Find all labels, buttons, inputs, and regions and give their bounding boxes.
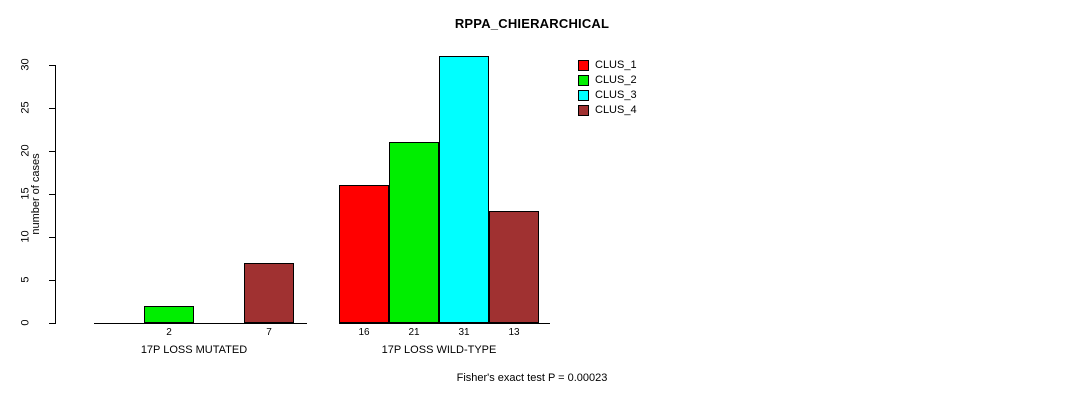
legend-color-swatch [578, 105, 589, 116]
legend-item-clus_1[interactable]: CLUS_1 [578, 58, 637, 73]
group-axis-label: 17P LOSS MUTATED [94, 345, 294, 356]
legend-item-clus_2[interactable]: CLUS_2 [578, 73, 637, 88]
page-title: RPPA_CHIERARCHICAL [0, 16, 1077, 31]
group-axis-label: 17P LOSS WILD-TYPE [339, 345, 539, 356]
y-axis-tick-mark [49, 237, 55, 238]
legend-item-clus_3[interactable]: CLUS_3 [578, 88, 637, 103]
bar-value-label: 16 [339, 328, 389, 338]
legend-item-label: CLUS_2 [595, 75, 637, 86]
y-axis-tick-label: 5 [21, 260, 32, 300]
legend-color-swatch [578, 90, 589, 101]
bar-value-label: 7 [244, 328, 294, 338]
legend-item-clus_4[interactable]: CLUS_4 [578, 103, 637, 118]
group-baseline [94, 323, 307, 324]
bar-clus_4-group1[interactable] [244, 263, 294, 323]
bar-value-label: 31 [439, 328, 489, 338]
bar-clus_3-group2[interactable] [439, 56, 489, 323]
bar-clus_1-group2[interactable] [339, 185, 389, 323]
bar-clus_2-group1[interactable] [144, 306, 194, 323]
y-axis-line [55, 65, 56, 324]
statistical-test-annotation: Fisher's exact test P = 0.00023 [0, 372, 1077, 384]
bar-clus_2-group2[interactable] [389, 142, 439, 323]
y-axis-tick-label: 15 [21, 174, 32, 214]
bar-value-label: 13 [489, 328, 539, 338]
bar-value-label: 21 [389, 328, 439, 338]
y-axis-tick-mark [49, 108, 55, 109]
y-axis-tick-mark [49, 151, 55, 152]
y-axis-tick-mark [49, 65, 55, 66]
bar-value-label: 2 [144, 328, 194, 338]
y-axis-tick-label: 30 [21, 45, 32, 85]
y-axis-tick-label: 10 [21, 217, 32, 257]
legend-item-label: CLUS_3 [595, 90, 637, 101]
legend-color-swatch [578, 75, 589, 86]
y-axis-tick-label: 20 [21, 131, 32, 171]
y-axis-tick-mark [49, 280, 55, 281]
legend-item-label: CLUS_4 [595, 105, 637, 116]
chart-canvas: RPPA_CHIERARCHICAL number of cases 30252… [0, 0, 1090, 400]
y-axis-tick-label: 0 [21, 303, 32, 343]
y-axis-tick-mark [49, 323, 55, 324]
legend: CLUS_1CLUS_2CLUS_3CLUS_4 [578, 58, 637, 118]
y-axis-title: number of cases [30, 134, 42, 254]
legend-item-label: CLUS_1 [595, 60, 637, 71]
legend-color-swatch [578, 60, 589, 71]
group-baseline [339, 323, 550, 324]
bar-clus_4-group2[interactable] [489, 211, 539, 323]
y-axis-tick-mark [49, 194, 55, 195]
y-axis-tick-label: 25 [21, 88, 32, 128]
